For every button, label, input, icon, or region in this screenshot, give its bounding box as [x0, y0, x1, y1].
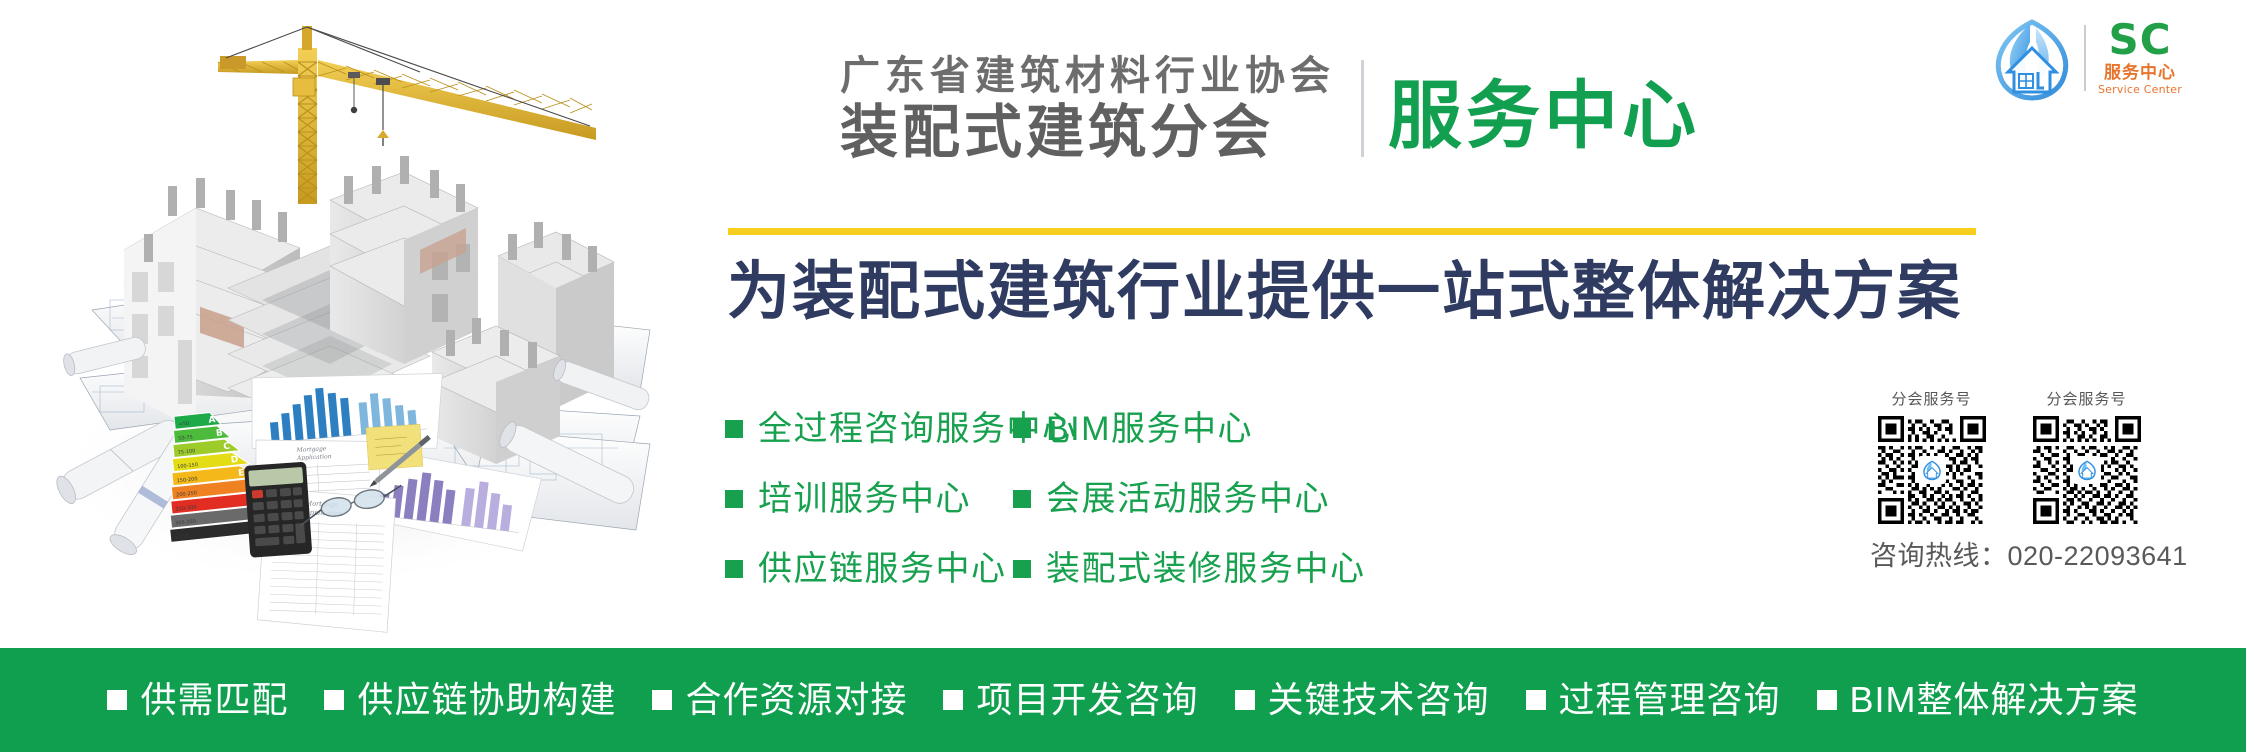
headline-divider — [1361, 60, 1364, 157]
square-bullet-icon — [1013, 420, 1031, 438]
square-bullet-icon — [725, 420, 743, 438]
construction-illustration: ABC DEF GHI <5050-7575-100 100-150150-20… — [0, 0, 660, 648]
org-name-line2: 装配式建筑分会 — [840, 101, 1335, 165]
service-center-title: 服务中心 — [1388, 71, 1700, 161]
list-item[interactable]: 会展活动服务中心 — [1013, 473, 1366, 525]
bottom-bar-label: BIM整体解决方案 — [1850, 682, 2139, 718]
qr-contact-block: 分会服务号 — [1870, 388, 2220, 573]
bottom-service-bar: 供需匹配 供应链协助构建 合作资源对接 项目开发咨询 关键技术咨询 过程管理咨询… — [0, 648, 2246, 752]
logo-abbrev: SC — [2108, 20, 2171, 60]
square-bullet-icon — [324, 690, 344, 710]
list-item[interactable]: 供应链服务中心 — [725, 543, 1013, 595]
service-label: 会展活动服务中心 — [1046, 482, 1330, 516]
square-bullet-icon — [725, 490, 743, 508]
bottom-bar-item[interactable]: 过程管理咨询 — [1526, 682, 1781, 718]
logo-divider — [2084, 25, 2086, 91]
hotline-text: 咨询热线：020-22093641 — [1870, 534, 2220, 573]
service-center-list: 全过程咨询服务中心 培训服务中心 供应链服务中心 BIM服务中心 会展活动服务中… — [725, 403, 1366, 613]
sc-logo-block: SC 服务中心 Service Center — [1986, 12, 2236, 104]
qr-cell-2: 分会服务号 — [2025, 388, 2148, 524]
gold-divider-rule — [728, 228, 1976, 235]
square-bullet-icon — [1013, 560, 1031, 578]
square-bullet-icon — [943, 690, 963, 710]
svg-text:<50: <50 — [179, 421, 190, 428]
square-bullet-icon — [652, 690, 672, 710]
svg-text:D: D — [230, 455, 238, 466]
svg-text:E: E — [238, 468, 245, 479]
list-item[interactable]: 装配式装修服务中心 — [1013, 543, 1366, 595]
list-item[interactable]: 全过程咨询服务中心 — [725, 403, 1013, 455]
bottom-bar-label: 供需匹配 — [140, 682, 288, 718]
square-bullet-icon — [1817, 690, 1837, 710]
service-column-left: 全过程咨询服务中心 培训服务中心 供应链服务中心 — [725, 403, 1013, 613]
qr-center-logo-icon — [1918, 456, 1946, 484]
service-label: 培训服务中心 — [758, 482, 971, 516]
bottom-bar-label: 过程管理咨询 — [1559, 682, 1781, 718]
headline-block: 广东省建筑材料行业协会 装配式建筑分会 服务中心 — [840, 54, 1700, 165]
organization-names: 广东省建筑材料行业协会 装配式建筑分会 — [840, 54, 1335, 165]
bottom-bar-item[interactable]: BIM整体解决方案 — [1817, 682, 2139, 718]
square-bullet-icon — [107, 690, 127, 710]
bottom-bar-label: 合作资源对接 — [685, 682, 907, 718]
qr-cell-1: 分会服务号 — [1870, 388, 1993, 524]
bottom-bar-item[interactable]: 项目开发咨询 — [943, 682, 1198, 718]
bottom-bar-label: 供应链协助构建 — [357, 682, 616, 718]
bottom-bar-label: 关键技术咨询 — [1268, 682, 1490, 718]
bottom-bar-item[interactable]: 供应链协助构建 — [324, 682, 616, 718]
qr-center-logo-icon — [2073, 456, 2101, 484]
service-label: 装配式装修服务中心 — [1046, 552, 1366, 586]
logo-cn-name: 服务中心 — [2104, 62, 2176, 83]
bottom-bar-label: 项目开发咨询 — [976, 682, 1198, 718]
square-bullet-icon — [725, 560, 743, 578]
gdpcb-flame-house-icon — [1986, 14, 2078, 102]
bottom-bar-item[interactable]: 关键技术咨询 — [1235, 682, 1490, 718]
service-label: BIM服务中心 — [1046, 412, 1253, 446]
svg-text:A: A — [208, 415, 216, 426]
qr-code-image-2[interactable] — [2033, 416, 2141, 524]
org-name-line1: 广东省建筑材料行业协会 — [840, 54, 1335, 99]
square-bullet-icon — [1235, 690, 1255, 710]
service-label: 供应链服务中心 — [758, 552, 1007, 586]
square-bullet-icon — [1526, 690, 1546, 710]
service-column-right: BIM服务中心 会展活动服务中心 装配式装修服务中心 — [1013, 403, 1366, 613]
square-bullet-icon — [1013, 490, 1031, 508]
promo-banner: ABC DEF GHI <5050-7575-100 100-150150-20… — [0, 0, 2246, 752]
logo-en-name: Service Center — [2098, 83, 2182, 96]
qr-code-image-1[interactable] — [1878, 416, 1986, 524]
list-item[interactable]: BIM服务中心 — [1013, 403, 1366, 455]
list-item[interactable]: 培训服务中心 — [725, 473, 1013, 525]
svg-text:B: B — [215, 428, 223, 439]
bottom-bar-item[interactable]: 合作资源对接 — [652, 682, 907, 718]
qr-caption: 分会服务号 — [1891, 388, 1971, 409]
qr-caption: 分会服务号 — [2046, 388, 2126, 409]
bottom-bar-item[interactable]: 供需匹配 — [107, 682, 288, 718]
tagline: 为装配式建筑行业提供一站式整体解决方案 — [727, 255, 1962, 331]
